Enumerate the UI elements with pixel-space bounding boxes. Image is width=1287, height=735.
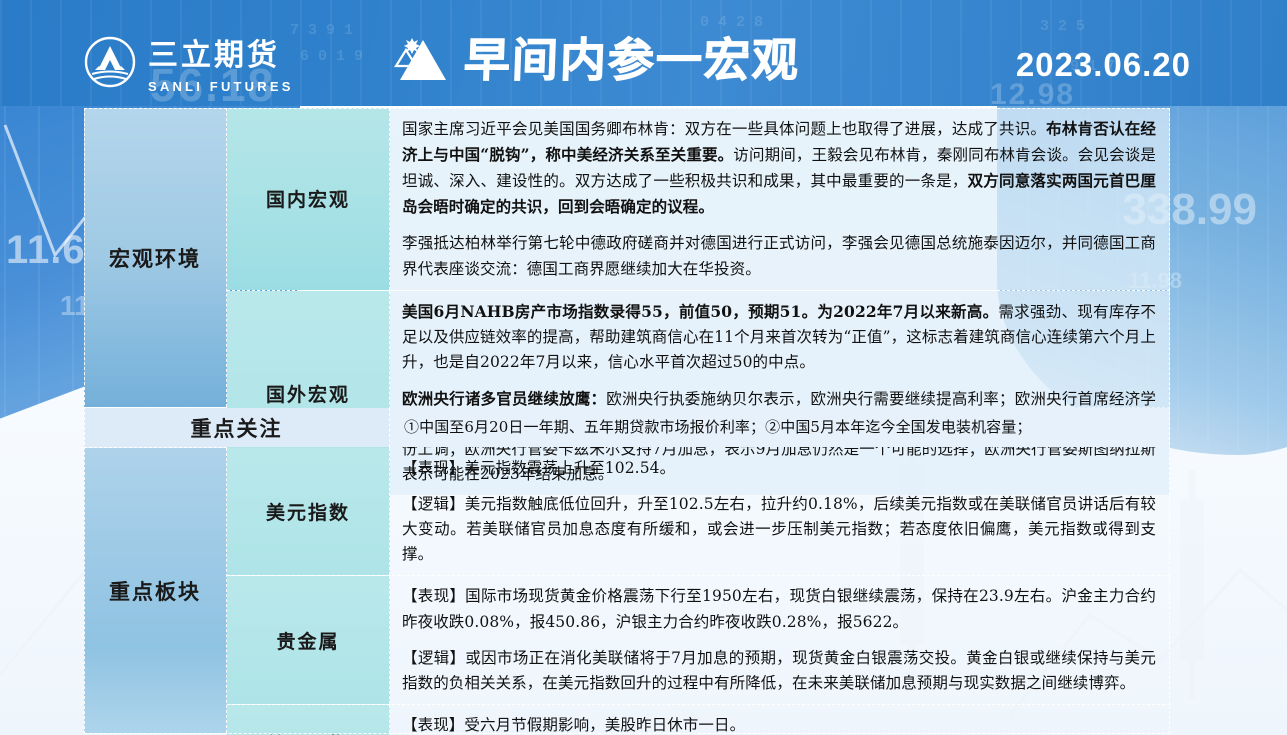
subcategory-label: 国内宏观: [266, 185, 350, 212]
brand-name-en: SANLI FUTURES: [148, 79, 294, 94]
paragraph: 【逻辑】或因市场正在消化美联储将于7月加息的预期，现货黄金白银震荡交投。黄金白银…: [402, 646, 1156, 696]
content-domestic-macro: 国家主席习近平会见美国国务卿布林肯：双方在一些具体问题上也取得了进展，达成了共识…: [390, 108, 1170, 290]
text-run-bold: 美国6月NAHB房产市场指数录得55，前值50，预期51。为2022年7月以来新…: [402, 302, 998, 321]
mountain-circle-logo-icon: [84, 36, 136, 88]
paragraph: 【逻辑】美元指数触底低位回升，升至102.5左右，拉升约0.18%，后续美元指数…: [402, 492, 1156, 567]
subcategory-precious-metals: 贵金属: [227, 576, 390, 703]
brand-name-cn: 三立期货: [148, 30, 294, 74]
paragraph: 【表现】美元指数震荡上升至102.54。: [402, 456, 1156, 481]
text-run-bold: 欧洲央行诸多官员继续放鹰：: [402, 389, 606, 408]
subcategory-label: 美元指数: [266, 498, 350, 525]
table-row-focus: 重点关注 ①中国至6月20日一年期、五年期贷款市场报价利率；②中国5月本年迄今全…: [84, 408, 1170, 448]
paragraph: 国家主席习近平会见美国国务卿布林肯：双方在一些具体问题上也取得了进展，达成了共识…: [402, 116, 1156, 220]
category-label: 重点关注: [191, 413, 283, 443]
mountain-peak-icon: [392, 26, 454, 88]
table-row-key-sectors: 重点板块 美元指数 【表现】美元指数震荡上升至102.54。 【逻辑】美元指数触…: [84, 448, 1170, 733]
header-banner: 56.18 12.98 7 3 9 1 6 0 1 9 0 4 2 8 3 2 …: [0, 0, 1287, 106]
subcategory-us-stock-index: 美国股指: [227, 705, 390, 735]
page-title: 早间内参一宏观: [463, 24, 801, 90]
report-page: 11.66 11.98 338.99 11.98 56.18 12.98 7 3…: [0, 0, 1287, 735]
content-key-focus: ①中国至6月20日一年期、五年期贷款市场报价利率；②中国5月本年迄今全国发电装机…: [390, 408, 1170, 447]
content-dollar-index: 【表现】美元指数震荡上升至102.54。 【逻辑】美元指数触底低位回升，升至10…: [390, 448, 1170, 575]
category-key-sectors: 重点板块: [84, 448, 227, 733]
content-precious-metals: 【表现】国际市场现货黄金价格震荡下行至1950左右，现货白银继续震荡，保持在23…: [390, 576, 1170, 703]
subcategory-domestic-macro: 国内宏观: [227, 108, 390, 290]
banner-title-group: 早间内参一宏观: [392, 24, 800, 90]
paragraph: 【表现】受六月节假期影响，美股昨日休市一日。: [402, 713, 1156, 735]
category-label: 宏观环境: [109, 243, 201, 273]
category-key-focus: 重点关注: [84, 408, 390, 447]
content-us-stock-index: 【表现】受六月节假期影响，美股昨日休市一日。 【逻辑】后续或继续在加息预期与经济…: [390, 705, 1170, 735]
subcategory-label: 美国股指: [266, 730, 350, 735]
report-table: 宏观环境 国内宏观 国家主席习近平会见美国国务卿布林肯：双方在一些具体问题上也取…: [84, 108, 1170, 733]
report-date: 2023.06.20: [1016, 46, 1191, 84]
subcategory-label: 贵金属: [276, 627, 339, 654]
paragraph: 美国6月NAHB房产市场指数录得55，前值50，预期51。为2022年7月以来新…: [402, 299, 1156, 375]
brand-logo: 三立期货 SANLI FUTURES: [84, 30, 294, 94]
subcategory-dollar-index: 美元指数: [227, 448, 390, 575]
paragraph: ①中国至6月20日一年期、五年期贷款市场报价利率；②中国5月本年迄今全国发电装机…: [404, 415, 1031, 439]
paragraph: 李强抵达柏林举行第七轮中德政府磋商并对德国进行正式访问，李强会见德国总统施泰因迈…: [402, 231, 1156, 281]
paragraph: 【表现】国际市场现货黄金价格震荡下行至1950左右，现货白银继续震荡，保持在23…: [402, 584, 1156, 634]
category-macro-environment: 宏观环境: [84, 108, 227, 407]
text-run: 国家主席习近平会见美国国务卿布林肯：双方在一些具体问题上也取得了进展，达成了共识…: [402, 120, 1046, 138]
table-row-macro: 宏观环境 国内宏观 国家主席习近平会见美国国务卿布林肯：双方在一些具体问题上也取…: [84, 108, 1170, 408]
text-run: 李强抵达柏林举行第七轮中德政府磋商并对德国进行正式访问，李强会见德国总统施泰因迈…: [402, 234, 1156, 277]
category-label: 重点板块: [109, 576, 201, 606]
subcategory-label: 国外宏观: [266, 380, 350, 407]
